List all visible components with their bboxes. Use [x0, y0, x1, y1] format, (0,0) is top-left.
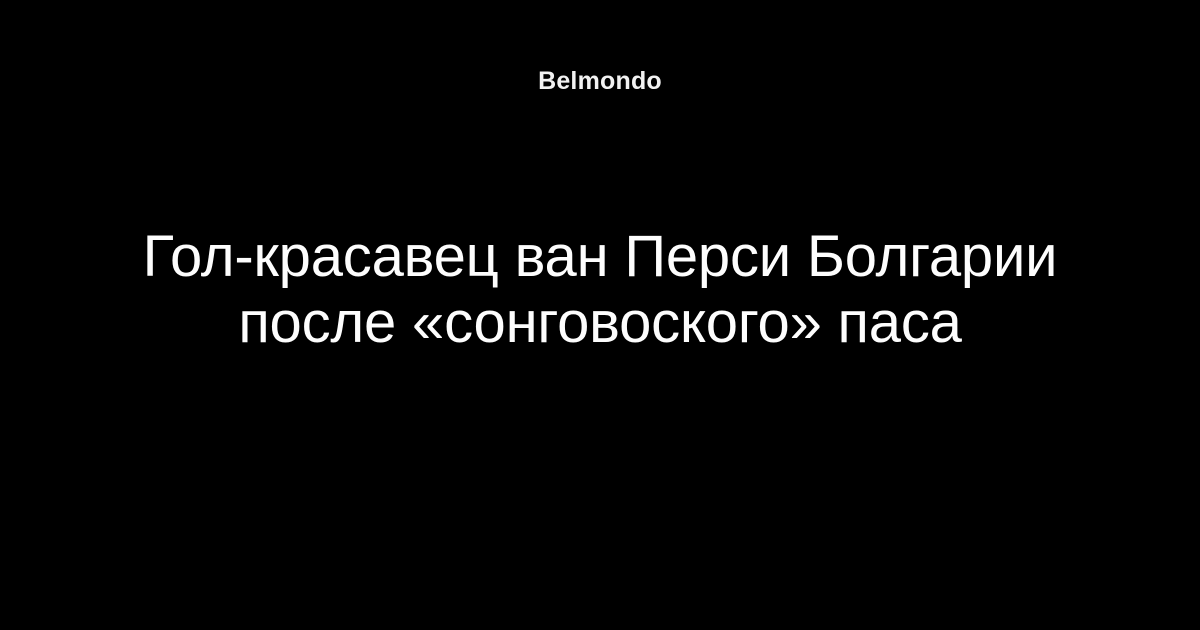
- brand-header: Belmondo: [0, 66, 1200, 96]
- site-brand-name: Belmondo: [538, 66, 662, 96]
- headline-container: Гол-красавец ван Перси Болгарии после «с…: [100, 224, 1100, 356]
- page-title: Гол-красавец ван Перси Болгарии после «с…: [100, 224, 1100, 356]
- social-share-card: Belmondo Гол-красавец ван Перси Болгарии…: [0, 0, 1200, 630]
